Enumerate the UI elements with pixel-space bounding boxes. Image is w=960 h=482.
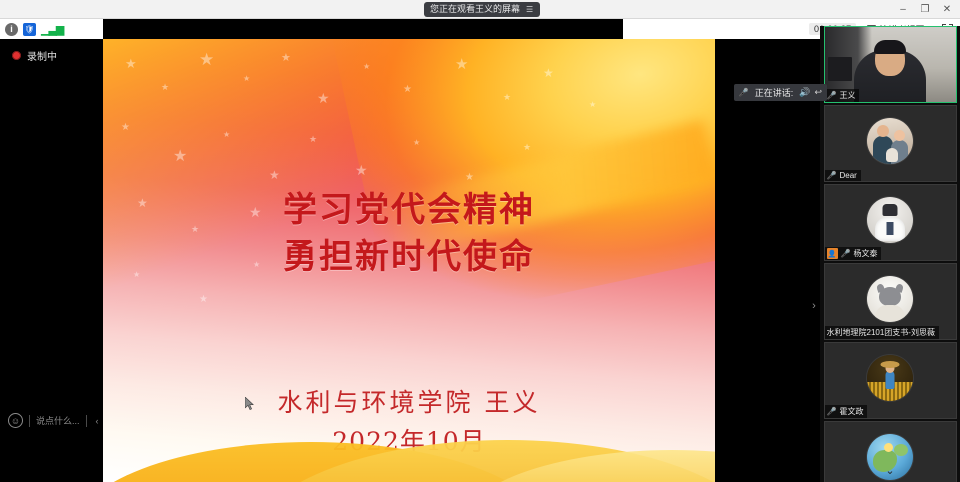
participant-avatar	[867, 355, 913, 401]
close-button[interactable]: ✕	[936, 0, 958, 19]
participant-name: 霍文政	[839, 406, 863, 417]
minimize-button[interactable]: –	[892, 0, 914, 19]
screen-share-notification-text: 您正在观看王义的屏幕	[430, 2, 520, 17]
participant-tile[interactable]: 🎤 王义	[824, 26, 957, 103]
recording-label: 录制中	[27, 48, 57, 63]
mic-muted-icon: 🎤	[827, 408, 837, 416]
recording-indicator: 录制中	[12, 48, 57, 63]
active-speaker-toast: 🎤 正在讲话: 🔊 ↩	[734, 84, 827, 101]
chevron-down-icon[interactable]: ⌄	[885, 464, 894, 477]
screen-share-notification: 您正在观看王义的屏幕 ☰	[424, 2, 540, 17]
participant-namebar: 🎤 霍文政	[825, 405, 868, 418]
host-badge-icon: 👤	[827, 248, 838, 259]
chat-composer[interactable]: ☺ 说点什么... ‹	[8, 413, 102, 428]
window-titlebar: 您正在观看王义的屏幕 ☰ – ❐ ✕	[0, 0, 960, 19]
security-shield-icon[interactable]: 🛡	[23, 23, 36, 36]
participant-namebar: 🎤 Dear	[825, 170, 861, 181]
participant-name: 杨文泰	[853, 248, 877, 259]
participant-namebar: 👤 🎤 杨文泰	[825, 247, 882, 260]
chat-input-placeholder[interactable]: 说点什么...	[36, 414, 80, 427]
restore-button[interactable]: ❐	[914, 0, 936, 19]
slide-title-line2: 勇担新时代使命	[103, 234, 715, 281]
mic-muted-icon: 🎤	[739, 89, 749, 97]
participant-avatar	[867, 197, 913, 243]
participant-tile[interactable]: 🎤 霍文政	[824, 342, 957, 419]
menu-icon[interactable]: ☰	[526, 2, 534, 17]
participant-avatar	[867, 276, 913, 322]
participant-tile[interactable]: 🎤 Dear	[824, 105, 957, 182]
participant-tile[interactable]: 水利地理院2101团支书-刘思薇	[824, 263, 957, 340]
window-controls: – ❐ ✕	[892, 0, 958, 19]
participant-namebar: 水利地理院2101团支书-刘思薇	[825, 326, 939, 339]
participant-tile[interactable]: ⌄	[824, 421, 957, 482]
zoom-meeting-window: 您正在观看王义的屏幕 ☰ – ❐ ✕ i 🛡 ▁▃▆ 01:06:27 演讲者视…	[0, 0, 960, 482]
participant-tile[interactable]: 👤 🎤 杨文泰	[824, 184, 957, 261]
participant-name: Dear	[839, 171, 856, 180]
participant-name: 王义	[839, 90, 855, 101]
slide-title-line1: 学习党代会精神	[103, 187, 715, 234]
participant-avatar	[867, 118, 913, 164]
participant-avatar: ⌄	[867, 434, 913, 480]
mic-muted-icon: 🎤	[841, 250, 851, 258]
composer-collapse-icon[interactable]: ‹	[93, 416, 102, 426]
participant-rail[interactable]: 🎤 王义 🎤 Dear 👤 🎤 杨文泰	[820, 26, 960, 482]
slide-wave-decoration	[103, 392, 715, 482]
recording-dot-icon	[12, 51, 21, 60]
presentation-slide[interactable]: ★ ★ ★ ★ ★ ★ ★ ★ ★ ★ ★ ★ ★ ★ ★ ★ ★ ★ ★ ★	[103, 39, 715, 482]
volume-icon[interactable]: 🔊	[799, 87, 810, 98]
panel-collapse-arrow-icon[interactable]: ›	[808, 297, 820, 315]
composer-divider	[29, 415, 30, 427]
active-speaker-label: 正在讲话:	[755, 86, 794, 99]
participant-namebar: 🎤 王义	[825, 89, 860, 102]
mic-on-icon: 🎤	[827, 92, 837, 100]
composer-divider-2	[86, 415, 87, 427]
shared-screen-stage: 录制中 ★ ★ ★ ★ ★ ★ ★ ★ ★ ★ ★ ★ ★ ★ ★	[0, 39, 820, 482]
emoji-icon[interactable]: ☺	[8, 413, 23, 428]
mic-muted-icon: 🎤	[827, 172, 837, 180]
slide-title: 学习党代会精神 勇担新时代使命	[103, 187, 715, 281]
info-icon[interactable]: i	[5, 23, 18, 36]
network-signal-icon[interactable]: ▁▃▆	[41, 23, 63, 36]
status-icon-strip: i 🛡 ▁▃▆	[0, 19, 103, 39]
reply-icon[interactable]: ↩	[814, 87, 822, 98]
participant-name: 水利地理院2101团支书-刘思薇	[827, 327, 935, 338]
mouse-cursor-icon	[245, 397, 254, 410]
